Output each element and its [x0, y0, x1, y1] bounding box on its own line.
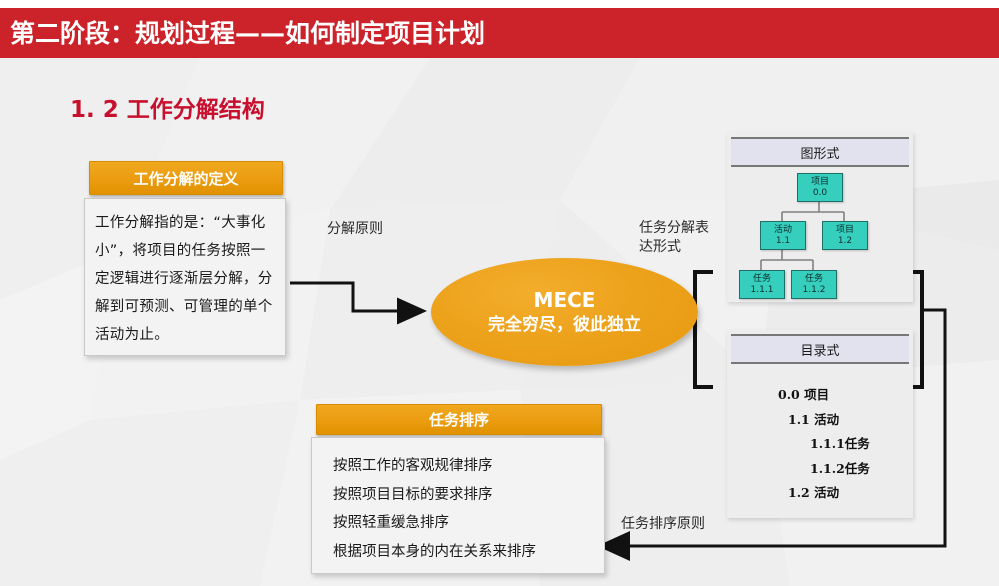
tree-node-label-line1: 活动 [774, 225, 792, 236]
tree-node-label-line2: 1.1.2 [803, 285, 826, 296]
tree-node-task-1-1-2: 任务 1.1.2 [791, 270, 837, 299]
tree-node-label-line2: 0.0 [813, 188, 827, 199]
list-item: 按照轻重缓急排序 [333, 509, 599, 538]
tree-node-label-line2: 1.1.1 [751, 285, 774, 296]
mece-ellipse: MECE 完全穷尽，彼此独立 [431, 258, 698, 366]
definition-card-header: 工作分解的定义 [89, 161, 283, 195]
page-title: 第二阶段：规划过程——如何制定项目计划 [10, 14, 485, 50]
list-item: 根据项目本身的内在关系来排序 [333, 538, 599, 567]
task-order-card-header: 任务排序 [316, 404, 602, 435]
list-item: 0.0 项目 [740, 383, 900, 408]
section-title: 1. 2 工作分解结构 [70, 90, 265, 124]
label-order-rule: 任务排序原则 [621, 515, 705, 534]
list-item: 1.1.1任务 [740, 432, 900, 457]
list-item: 1.2 活动 [740, 481, 900, 506]
list-item: 1.1.2任务 [740, 457, 900, 482]
tree-node-project-0-0: 项目 0.0 [797, 173, 843, 202]
task-order-list: 按照工作的客观规律排序 按照项目目标的要求排序 按照轻重缓急排序 根据项目本身的… [333, 452, 599, 566]
mece-title: MECE [534, 287, 596, 313]
list-item: 按照项目目标的要求排序 [333, 481, 599, 510]
list-item: 按照工作的客观规律排序 [333, 452, 599, 481]
list-panel-header: 目录式 [731, 334, 909, 364]
list-item: 1.1 活动 [740, 408, 900, 433]
label-decomposition-rule: 分解原则 [327, 220, 383, 239]
slide-canvas: 第二阶段：规划过程——如何制定项目计划 1. 2 工作分解结构 工作分解的定义 … [0, 0, 999, 586]
definition-card-text: 工作分解指的是：“大事化小”，将项目的任务按照一定逻辑进行逐渐层分解，分解到可预… [95, 209, 277, 349]
label-expression-form: 任务分解表 达形式 [639, 219, 709, 257]
graph-panel-header: 图形式 [731, 137, 909, 167]
tree-node-task-1-1-1: 任务 1.1.1 [739, 270, 785, 299]
tree-node-project-1-2: 项目 1.2 [822, 221, 868, 250]
tree-node-label-line1: 任务 [805, 274, 823, 285]
outline-list: 0.0 项目 1.1 活动 1.1.1任务 1.1.2任务 1.2 活动 [740, 383, 900, 506]
tree-node-label-line1: 项目 [836, 225, 854, 236]
tree-node-activity-1-1: 活动 1.1 [760, 221, 806, 250]
tree-node-label-line1: 项目 [811, 177, 829, 188]
mece-subtitle: 完全穷尽，彼此独立 [488, 313, 641, 338]
tree-node-label-line2: 1.2 [838, 236, 852, 247]
tree-node-label-line2: 1.1 [776, 236, 790, 247]
tree-node-label-line1: 任务 [753, 274, 771, 285]
